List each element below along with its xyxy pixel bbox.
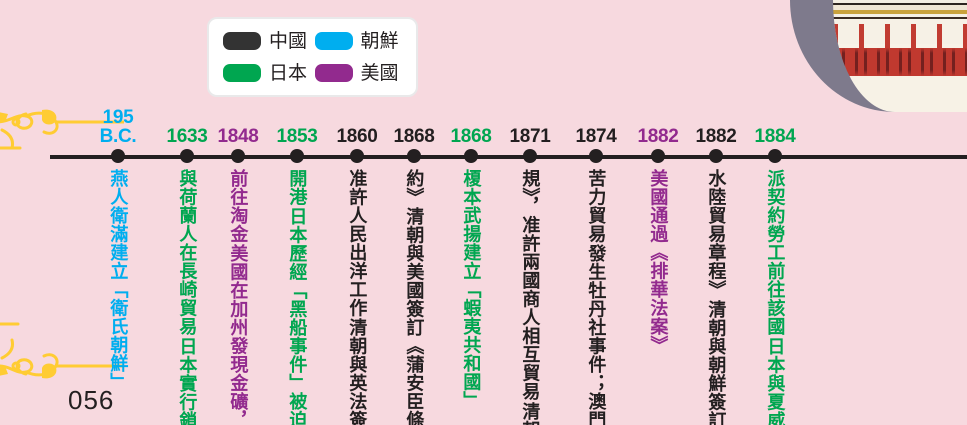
legend: 中國 朝鮮 日本 美國 (207, 17, 418, 97)
timeline-event-line: 清朝與日本簽訂《日清修好條 (521, 402, 540, 425)
timeline-year-label: 1848 (217, 127, 258, 146)
timeline-event-line: 准許人民出洋工作 (348, 169, 367, 317)
legend-item-usa: 美國 (315, 64, 407, 83)
timeline-year-label: 1884 (754, 127, 795, 146)
timeline-year-label: 195B.C. (100, 108, 137, 146)
timeline-event-line: 水陸貿易章程》 (707, 169, 726, 299)
timeline-dot (350, 149, 364, 163)
legend-label-china: 中國 (269, 32, 307, 51)
timeline-event-line: 開港 (288, 169, 307, 206)
timeline-event-description: 美國在加州發現金礦，華工前往淘金 (229, 169, 248, 425)
timeline-dot (464, 149, 478, 163)
timeline-year-label: 1853 (276, 127, 317, 146)
timeline-year-label: 1874 (575, 127, 616, 146)
timeline-dot (111, 149, 125, 163)
timeline-event-line: 清朝與美國簽訂《蒲安臣條 (405, 207, 424, 425)
timeline-event-description: 美國通過《排華法案》 (649, 169, 668, 354)
timeline-event-line: 榎本武揚建立「蝦夷共和國」 (462, 169, 481, 410)
legend-item-china: 中國 (223, 32, 315, 51)
legend-swatch-korea (315, 32, 353, 50)
timeline-event-line: 派契約勞工前往該國 (766, 169, 785, 336)
timeline-dot (407, 149, 421, 163)
timeline-page: 中國 朝鮮 日本 美國 195B.C.燕人衛滿建立「衛氏朝鮮」1633日本實行鎖… (0, 0, 967, 425)
timeline-event-line: 日本與夏威夷王國簽訂協議， (766, 337, 785, 425)
timeline-event-description: 日本與夏威夷王國簽訂協議，派契約勞工前往該國 (766, 169, 785, 425)
timeline-event-description: 發生牡丹社事件；澳門停止苦力貿易 (587, 169, 606, 425)
legend-swatch-china (223, 32, 261, 50)
timeline-event-line: 與荷蘭人在長崎貿易 (178, 169, 197, 336)
timeline-year-label: 1868 (450, 127, 491, 146)
timeline-dot (589, 149, 603, 163)
timeline-event-line: 燕人衛滿建立「衛氏朝鮮」 (109, 169, 128, 391)
timeline-dot (709, 149, 723, 163)
timeline-event-line: 前往淘金 (229, 169, 248, 243)
timeline-event-description: 日本實行鎖國，只准許中國人與荷蘭人在長崎貿易 (178, 169, 197, 425)
timeline-dot (231, 149, 245, 163)
timeline-event-line: 日本歷經「黑船事件」被迫 (288, 207, 307, 425)
timeline-year-label: 1868 (393, 127, 434, 146)
timeline-year-label: 1882 (637, 127, 678, 146)
timeline-dot (651, 149, 665, 163)
timeline-event-description: 清朝與日本簽訂《日清修好條規》，准許兩國商人相互貿易 (521, 169, 540, 425)
timeline-dot (523, 149, 537, 163)
legend-swatch-japan (223, 64, 261, 82)
page-number: 056 (68, 385, 114, 416)
timeline-dot (180, 149, 194, 163)
legend-label-usa: 美國 (361, 64, 399, 83)
legend-label-japan: 日本 (269, 64, 307, 83)
timeline-event-description: 日本歷經「黑船事件」被迫開港 (288, 169, 307, 425)
timeline-event-description: 清朝與朝鮮簽訂《中朝商民水陸貿易章程》 (707, 169, 726, 425)
timeline-year-label: 1860 (336, 127, 377, 146)
timeline-event-line: 美國在加州發現金礦，華工 (229, 244, 248, 425)
timeline-event-line: 規》，准許兩國商人相互貿易 (521, 169, 540, 401)
timeline-dot (768, 149, 782, 163)
timeline-event-line: 清朝與朝鮮簽訂《中朝商民 (707, 300, 726, 425)
timeline-event-description: 清朝與美國簽訂《蒲安臣條約》 (405, 169, 424, 425)
timeline-event-line: 日本實行鎖國，只准許中國人 (178, 337, 197, 425)
timeline-event-description: 榎本武揚建立「蝦夷共和國」 (462, 169, 481, 410)
timeline-axis: 195B.C.燕人衛滿建立「衛氏朝鮮」1633日本實行鎖國，只准許中國人與荷蘭人… (50, 155, 967, 159)
timeline-event-line: 清朝與英法簽訂《北京條約》 (348, 318, 367, 425)
timeline-event-line: 發生牡丹社事件；澳門停止 (587, 244, 606, 425)
timeline-year-label: 1871 (509, 127, 550, 146)
bottom-left-ornament-icon (0, 318, 124, 393)
timeline-year-label: 1882 (695, 127, 736, 146)
legend-label-korea: 朝鮮 (361, 32, 399, 51)
timeline-year-label: 1633 (166, 127, 207, 146)
legend-swatch-usa (315, 64, 353, 82)
legend-item-korea: 朝鮮 (315, 32, 407, 51)
timeline-event-description: 燕人衛滿建立「衛氏朝鮮」 (109, 169, 128, 391)
timeline-event-line: 苦力貿易 (587, 169, 606, 243)
timeline-event-line: 約》 (405, 169, 424, 206)
timeline-event-line: 美國通過《排華法案》 (649, 169, 668, 354)
legend-item-japan: 日本 (223, 64, 315, 83)
timeline-dot (290, 149, 304, 163)
temple-mural-photo (790, 0, 967, 112)
timeline-event-description: 清朝與英法簽訂《北京條約》准許人民出洋工作 (348, 169, 367, 425)
